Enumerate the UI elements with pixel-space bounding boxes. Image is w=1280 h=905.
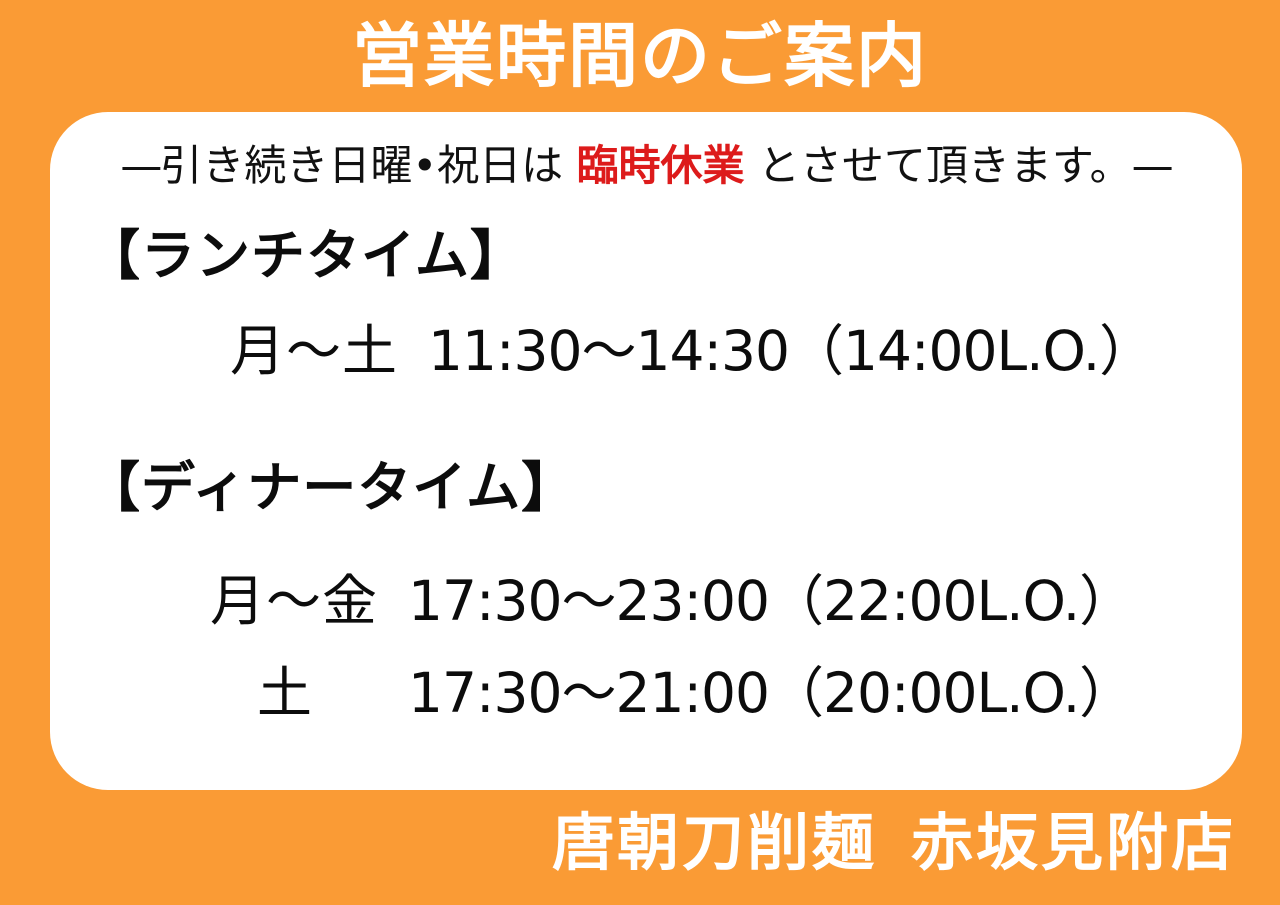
dinner-days-label: 月〜金	[210, 568, 360, 634]
business-hours-poster: 営業時間のご案内 —引き続き日曜•祝日は 臨時休業 とさせて頂きます。— 【ラン…	[0, 0, 1280, 905]
shop-name: 唐朝刀削麺赤坂見附店	[552, 806, 1236, 880]
dinner-section-heading: 【ディナータイム】	[86, 456, 576, 520]
lunch-times-value: 11:30〜14:30（14:00L.O.）	[428, 318, 1153, 384]
info-card: —引き続き日曜•祝日は 臨時休業 とさせて頂きます。— 【ランチタイム】 月〜土…	[50, 112, 1242, 790]
lunch-days-label: 月〜土	[230, 318, 380, 384]
notice-text-before: 引き続き日曜•祝日は	[160, 141, 576, 190]
lunch-hours-row: 月〜土11:30〜14:30（14:00L.O.）	[230, 318, 1153, 384]
shop-branch-name: 赤坂見附店	[911, 806, 1236, 879]
status-badge-closed: 臨時休業	[576, 141, 744, 190]
notice-trail-dash: —	[1132, 141, 1172, 190]
shop-brand-name: 唐朝刀削麺	[552, 806, 877, 879]
dinner-hours-row: 月〜金17:30〜23:00（22:00L.O.）	[210, 568, 1133, 634]
notice-lead-dash: —	[120, 141, 160, 190]
lunch-section-heading: 【ランチタイム】	[86, 224, 525, 288]
notice-text-after: とさせて頂きます。	[744, 141, 1131, 190]
dinner-days-label: 土	[210, 660, 360, 726]
page-title: 営業時間のご案内	[0, 14, 1280, 98]
dinner-times-value: 17:30〜23:00（22:00L.O.）	[408, 568, 1133, 634]
dinner-times-value: 17:30〜21:00（20:00L.O.）	[408, 660, 1133, 726]
dinner-hours-row: 土17:30〜21:00（20:00L.O.）	[210, 660, 1133, 726]
closure-notice: —引き続き日曜•祝日は 臨時休業 とさせて頂きます。—	[50, 140, 1242, 192]
